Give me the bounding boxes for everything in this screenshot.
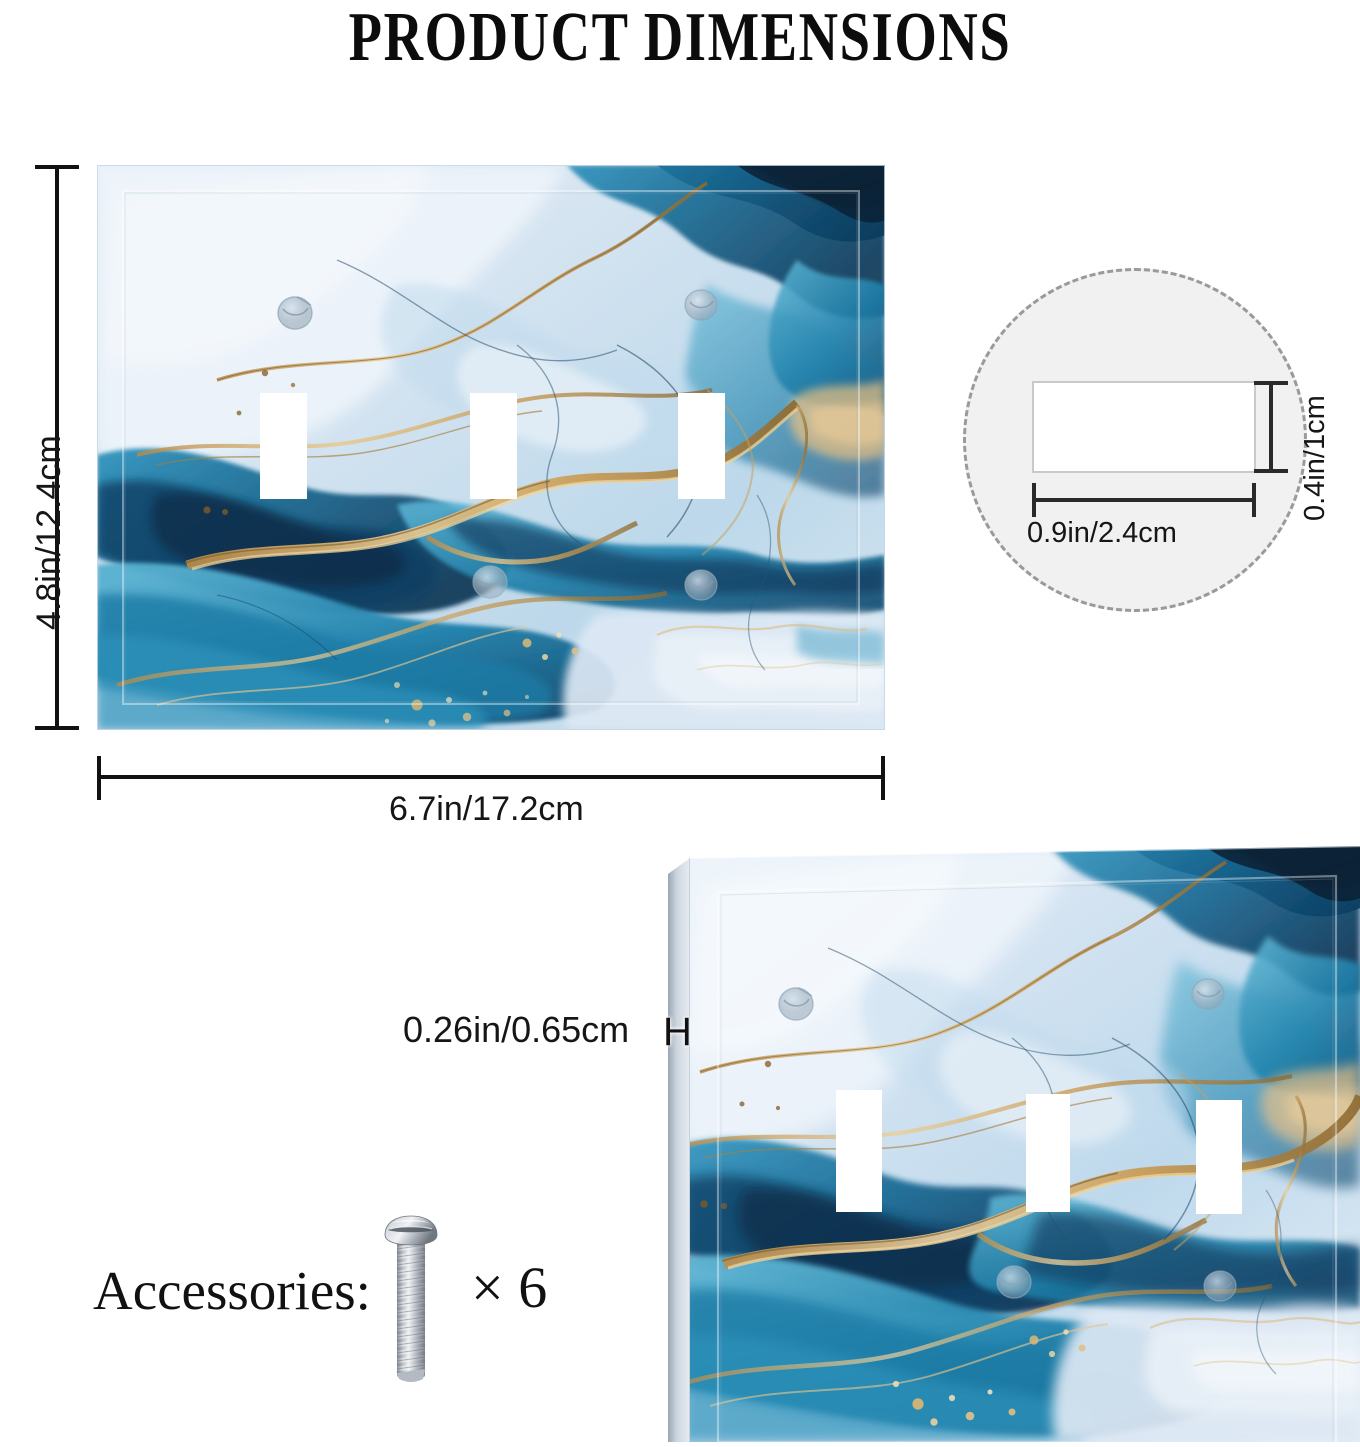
callout-height-label: 0.4in/1cm <box>1296 395 1334 521</box>
screw-hole-top-right <box>685 290 717 320</box>
thickness-label: 0.26in/0.65cm <box>403 1011 629 1049</box>
callout-height-line <box>1269 381 1273 473</box>
toggle-opening-callout: 0.9in/2.4cm 0.4in/1cm <box>963 268 1307 612</box>
product-dimensions-infographic: PRODUCT DIMENSIONS 4.8in/12.4cm <box>0 0 1360 1442</box>
accessories-label: Accessories: <box>93 1262 371 1320</box>
toggle-cutout-1 <box>260 393 307 499</box>
thickness-marker: H <box>663 1012 692 1052</box>
screw-hole-persp-top-left <box>779 988 813 1020</box>
callout-width-right-cap <box>1252 483 1256 517</box>
mounting-screw-icon <box>383 1215 439 1385</box>
width-dim-line <box>97 775 885 779</box>
callout-opening-rect <box>1032 381 1256 473</box>
height-dimension-label: 4.8in/12.4cm <box>30 435 68 630</box>
screw-hole-persp-bottom-right <box>1204 1271 1236 1301</box>
screw-hole-top-left <box>278 297 312 329</box>
width-dimension-label: 6.7in/17.2cm <box>389 790 584 828</box>
main-wall-plate <box>97 165 885 730</box>
toggle-cutout-3 <box>678 393 725 499</box>
callout-width-line <box>1032 498 1256 502</box>
toggle-cutout-persp-2 <box>1026 1094 1070 1212</box>
callout-height-bottom-cap <box>1254 469 1288 473</box>
accessories-quantity: × 6 <box>471 1258 547 1318</box>
height-dim-bottom-cap <box>35 726 79 730</box>
toggle-cutout-persp-1 <box>836 1090 882 1212</box>
toggle-cutout-2 <box>470 393 517 499</box>
screw-hole-persp-bottom-left <box>997 1266 1031 1298</box>
width-dim-right-cap <box>881 756 885 800</box>
plate-thickness-edge <box>668 858 690 1442</box>
callout-width-label: 0.9in/2.4cm <box>1027 514 1177 552</box>
wall-plate-perspective-view <box>660 846 1360 1442</box>
page-title: PRODUCT DIMENSIONS <box>150 2 1211 74</box>
screw-hole-bottom-left <box>473 566 507 598</box>
marble-pattern-perspective <box>660 846 1360 1442</box>
screw-hole-bottom-right <box>685 570 717 600</box>
toggle-cutout-persp-3 <box>1196 1100 1242 1214</box>
screw-hole-persp-top-right <box>1192 979 1224 1009</box>
